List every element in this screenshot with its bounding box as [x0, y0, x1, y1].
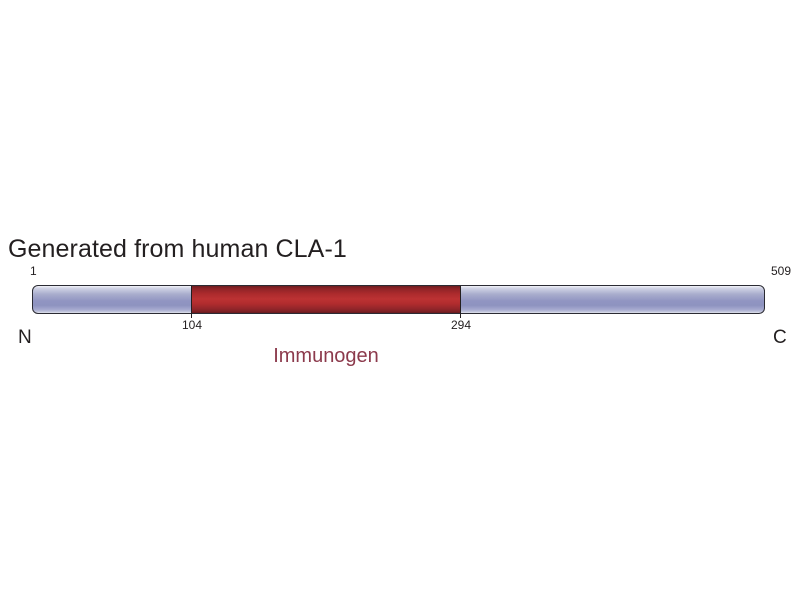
protein-diagram: 1 509 104 294 N C Immunogen — [0, 0, 800, 600]
position-label-immunogen-end: 294 — [446, 318, 476, 332]
position-label-end: 509 — [763, 264, 791, 278]
position-label-start: 1 — [30, 264, 37, 278]
c-terminus-label: C — [773, 327, 787, 349]
immunogen-caption: Immunogen — [191, 344, 461, 368]
immunogen-region — [191, 286, 461, 313]
n-terminus-label: N — [18, 327, 32, 349]
protein-domain-figure: Generated from human CLA-1 1 509 104 294… — [0, 0, 800, 600]
position-label-immunogen-start: 104 — [177, 318, 207, 332]
protein-backbone-bar — [32, 285, 765, 314]
